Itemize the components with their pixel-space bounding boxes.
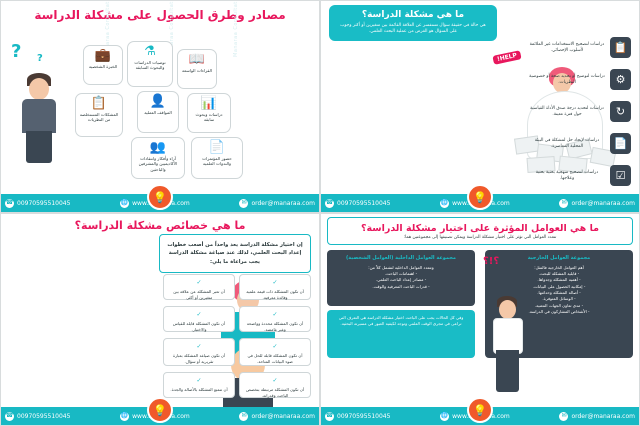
footer-email[interactable]: ✉ order@manaraa.com bbox=[239, 199, 315, 208]
phone-icon: ☎ bbox=[5, 412, 14, 421]
source-bubble[interactable]: 👥 آراء وأفكار وانتقادات الأكاديميين والم… bbox=[131, 137, 185, 179]
source-bubble[interactable]: 📋 المشكلات المستخلصة من النظريات bbox=[75, 93, 123, 137]
check-icon: ✓ bbox=[168, 343, 230, 352]
refresh-icon: ↻ bbox=[610, 101, 631, 122]
footer-email-text: order@manaraa.com bbox=[251, 200, 315, 207]
characteristics-title: ما هي خصائص مشكلة الدراسة؟ bbox=[1, 217, 319, 233]
phone-icon: ☎ bbox=[5, 199, 14, 208]
characteristic-text: أن تعبر المشكلة عن علاقة بين متغيرين أو … bbox=[173, 289, 225, 300]
lightbulb-badge: 💡 bbox=[147, 397, 173, 423]
characteristic-text: أن تكون المشكلة مرتبطة بتخصص الباحث وقدر… bbox=[246, 387, 304, 398]
characteristic-text: أن تكون المشكلة محددة وواضحة وغير غامضة. bbox=[247, 321, 303, 332]
definition-title: ما هي مشكلة الدراسة؟ bbox=[336, 10, 490, 20]
footer-phone[interactable]: ☎ 00970595510045 bbox=[325, 412, 390, 421]
characteristic-text: أن تتمتع المشكلة بالأصالة والجدة. bbox=[170, 387, 227, 392]
globe-icon: 🌐 bbox=[120, 199, 129, 208]
check-icon: ✓ bbox=[244, 377, 306, 386]
footer-email-text: order@manaraa.com bbox=[571, 200, 635, 207]
character-confused-person: ؟!؟ bbox=[479, 254, 539, 404]
chart-icon: 📊 bbox=[201, 97, 217, 110]
panel-sources-methods: مصادر وطرق الحصول على مشكلة الدراسة Mana… bbox=[0, 0, 320, 213]
characteristic-card[interactable]: ✓ أن تتمتع المشكلة بالأصالة والجدة. bbox=[163, 372, 235, 398]
check-icon: ✓ bbox=[244, 343, 306, 352]
reason-row[interactable]: ↻ دراسات لتحديد درجة صدق الأداة القياسية… bbox=[528, 101, 631, 122]
internal-note-text: وفي كل الحالات يجب على الباحث اختيار مشك… bbox=[333, 315, 469, 327]
characteristics-note: إن اختيار مشكلة الدراسة يعد واحداً من أص… bbox=[159, 234, 311, 273]
mail-icon: ✉ bbox=[239, 412, 248, 421]
characteristic-card[interactable]: ✓ أن تكون المشكلة ذات قيمة علمية وفائدة … bbox=[239, 274, 311, 300]
footer-phone[interactable]: ☎ 00970595510045 bbox=[5, 412, 70, 421]
characteristic-card[interactable]: ✓ أن تكون المشكلة قابلة للقياس والاختبار… bbox=[163, 306, 235, 332]
document-icon: 📄 bbox=[610, 133, 631, 154]
source-bubble[interactable]: 💼 الخبرة الشخصية bbox=[83, 45, 123, 85]
source-label: المشكلات المستخلصة من النظريات bbox=[78, 112, 120, 123]
clipboard-icon: 📋 bbox=[610, 37, 631, 58]
panel-sources-title: مصادر وطرق الحصول على مشكلة الدراسة bbox=[1, 5, 319, 25]
reason-row[interactable]: ☑ دراسات لتصحيح منهجية بحثية بحثية وعلاج… bbox=[528, 165, 631, 186]
internal-factors-note: وفي كل الحالات يجب على الباحث اختيار مشك… bbox=[327, 310, 475, 358]
source-bubble[interactable]: 📊 دراسات وبحوث سابقة bbox=[187, 93, 231, 133]
globe-icon: 🌐 bbox=[440, 412, 449, 421]
panel-problem-characteristics: ما هي خصائص مشكلة الدراسة؟ إن اختيار مشك… bbox=[0, 213, 320, 426]
characteristic-text: أن تكون المشكلة قابلة للحل في ضوء البيان… bbox=[248, 353, 303, 364]
characteristic-card[interactable]: ✓ أن تكون المشكلة محددة وواضحة وغير غامض… bbox=[239, 306, 311, 332]
question-mark-icon: ? bbox=[11, 41, 21, 62]
help-label: HELP! bbox=[492, 50, 521, 65]
footer-phone-text: 00970595510045 bbox=[337, 200, 390, 207]
source-label: حضور المؤتمرات والندوات العلمية bbox=[194, 156, 240, 167]
footer-phone-text: 00970595510045 bbox=[17, 200, 70, 207]
footer-phone[interactable]: ☎ 00970595510045 bbox=[325, 199, 390, 208]
reason-text: دراسات لتصحيح الاستخدامات غير الملائمة ل… bbox=[528, 42, 606, 54]
phone-icon: ☎ bbox=[325, 199, 334, 208]
factors-title: ما هي العوامل المؤثرة على اختيار مشكلة ا… bbox=[361, 223, 599, 234]
lightbulb-badge: 💡 bbox=[147, 184, 173, 210]
phone-icon: ☎ bbox=[325, 412, 334, 421]
footer-phone-text: 00970595510045 bbox=[17, 413, 70, 420]
source-bubble[interactable]: ⚗ توصيات الدراسات والبحوث السابقة bbox=[127, 41, 173, 87]
definition-callout: ما هي مشكلة الدراسة؟ هي حالة في حقيقة سؤ… bbox=[329, 5, 497, 41]
panel-influencing-factors: ما هي العوامل المؤثرة على اختيار مشكلة ا… bbox=[320, 213, 640, 426]
globe-icon: 🌐 bbox=[120, 412, 129, 421]
footer-email-text: order@manaraa.com bbox=[571, 413, 635, 420]
character-thinking-man: ? ? bbox=[9, 43, 71, 163]
source-label: القراءات الواسعة bbox=[182, 68, 212, 73]
source-label: دراسات وبحوث سابقة bbox=[190, 112, 228, 123]
source-label: الخبرة الشخصية bbox=[89, 64, 117, 69]
source-bubble[interactable]: 👤 المواقف العملية bbox=[137, 91, 179, 133]
reason-row[interactable]: ⚙ دراسات لتوضيح أو تحديد صحة أو خصوصية ا… bbox=[528, 69, 631, 90]
flask-icon: ⚗ bbox=[144, 45, 156, 58]
people-icon: 👥 bbox=[150, 141, 166, 154]
reason-text: دراسات لتحديد درجة صدق الأداة القياسية ح… bbox=[528, 106, 606, 118]
footer-email[interactable]: ✉ order@manaraa.com bbox=[239, 412, 315, 421]
panel-what-is-problem: ما هي مشكلة الدراسة؟ هي حالة في حقيقة سؤ… bbox=[320, 0, 640, 213]
briefcase-icon: 💼 bbox=[95, 49, 111, 62]
characteristic-text: أن تكون المشكلة قابلة للقياس والاختبار. bbox=[173, 321, 225, 332]
source-bubble[interactable]: 📄 حضور المؤتمرات والندوات العلمية bbox=[191, 137, 243, 179]
check-icon: ✓ bbox=[244, 279, 306, 288]
lightbulb-badge: 💡 bbox=[467, 397, 493, 423]
characteristic-card[interactable]: ✓ أن تكون صياغة المشكلة بعبارة تقريرية أ… bbox=[163, 338, 235, 366]
factors-header: ما هي العوامل المؤثرة على اختيار مشكلة ا… bbox=[327, 217, 633, 245]
question-exclaim-icon: ؟!؟ bbox=[483, 256, 499, 267]
book-icon: 📖 bbox=[189, 53, 205, 66]
footer-email[interactable]: ✉ order@manaraa.com bbox=[559, 412, 635, 421]
source-label: آراء وأفكار وانتقادات الأكاديميين والمشر… bbox=[134, 156, 182, 172]
list-icon: 📄 bbox=[209, 141, 225, 154]
check-icon: ✓ bbox=[168, 377, 230, 386]
definition-text: هي حالة في حقيقة سؤال تستفسر عن العلاقة … bbox=[336, 23, 490, 36]
characteristic-card[interactable]: ✓ أن تكون المشكلة قابلة للحل في ضوء البي… bbox=[239, 338, 311, 366]
mail-icon: ✉ bbox=[559, 412, 568, 421]
internal-factors-heading: مجموعة العوامل الداخلية (العوامل الشخصية… bbox=[333, 255, 469, 262]
source-label: المواقف العملية bbox=[144, 110, 172, 115]
characteristic-card[interactable]: ✓ أن تعبر المشكلة عن علاقة بين متغيرين أ… bbox=[163, 274, 235, 300]
person-icon: 👤 bbox=[150, 95, 166, 108]
source-bubble[interactable]: 📖 القراءات الواسعة bbox=[177, 49, 217, 89]
reason-text: دراسات لإيجاد حل لمشكلة في البيئة المحلي… bbox=[528, 138, 606, 150]
sources-diagram: Manaraa Consultations Manaraa Consultati… bbox=[1, 27, 319, 192]
footer-phone[interactable]: ☎ 00970595510045 bbox=[5, 199, 70, 208]
source-label: توصيات الدراسات والبحوث السابقة bbox=[130, 60, 170, 71]
gear-icon: ⚙ bbox=[610, 69, 631, 90]
internal-factors-list: وتتعدد العوامل الداخلية لتشمل كلاً من: -… bbox=[333, 265, 469, 290]
lightbulb-badge: 💡 bbox=[467, 184, 493, 210]
globe-icon: 🌐 bbox=[440, 199, 449, 208]
reason-text: دراسات لتوضيح أو تحديد صحة أو خصوصية الن… bbox=[528, 74, 606, 86]
mail-icon: ✉ bbox=[239, 199, 248, 208]
question-mark-icon: ? bbox=[37, 53, 43, 64]
internal-factors-box: مجموعة العوامل الداخلية (العوامل الشخصية… bbox=[327, 250, 475, 306]
characteristic-text: أن تكون المشكلة ذات قيمة علمية وفائدة مع… bbox=[246, 289, 304, 300]
mail-icon: ✉ bbox=[559, 199, 568, 208]
watermark: Manaraa Consultations bbox=[233, 0, 239, 57]
factors-subtitle: تتعدد العوامل التي تؤثر على اختيار مشكلة… bbox=[404, 235, 557, 240]
check-icon: ✓ bbox=[168, 279, 230, 288]
reason-row[interactable]: 📋 دراسات لتصحيح الاستخدامات غير الملائمة… bbox=[528, 37, 631, 58]
footer-email-text: order@manaraa.com bbox=[251, 413, 315, 420]
list-item: - قدرات الباحث المعرفية والوقت. bbox=[333, 284, 469, 290]
characteristic-text: أن تكون صياغة المشكلة بعبارة تقريرية أو … bbox=[173, 353, 225, 364]
reason-text: دراسات لتصحيح منهجية بحثية بحثية وعلاجها… bbox=[528, 170, 606, 182]
note-icon: 📋 bbox=[91, 97, 107, 110]
footer-phone-text: 00970595510045 bbox=[337, 413, 390, 420]
check-icon: ✓ bbox=[168, 311, 230, 320]
characteristic-card[interactable]: ✓ أن تكون المشكلة مرتبطة بتخصص الباحث وق… bbox=[239, 372, 311, 398]
checklist-icon: ☑ bbox=[610, 165, 631, 186]
check-icon: ✓ bbox=[244, 311, 306, 320]
footer-email[interactable]: ✉ order@manaraa.com bbox=[559, 199, 635, 208]
reason-row[interactable]: 📄 دراسات لإيجاد حل لمشكلة في البيئة المح… bbox=[528, 133, 631, 154]
